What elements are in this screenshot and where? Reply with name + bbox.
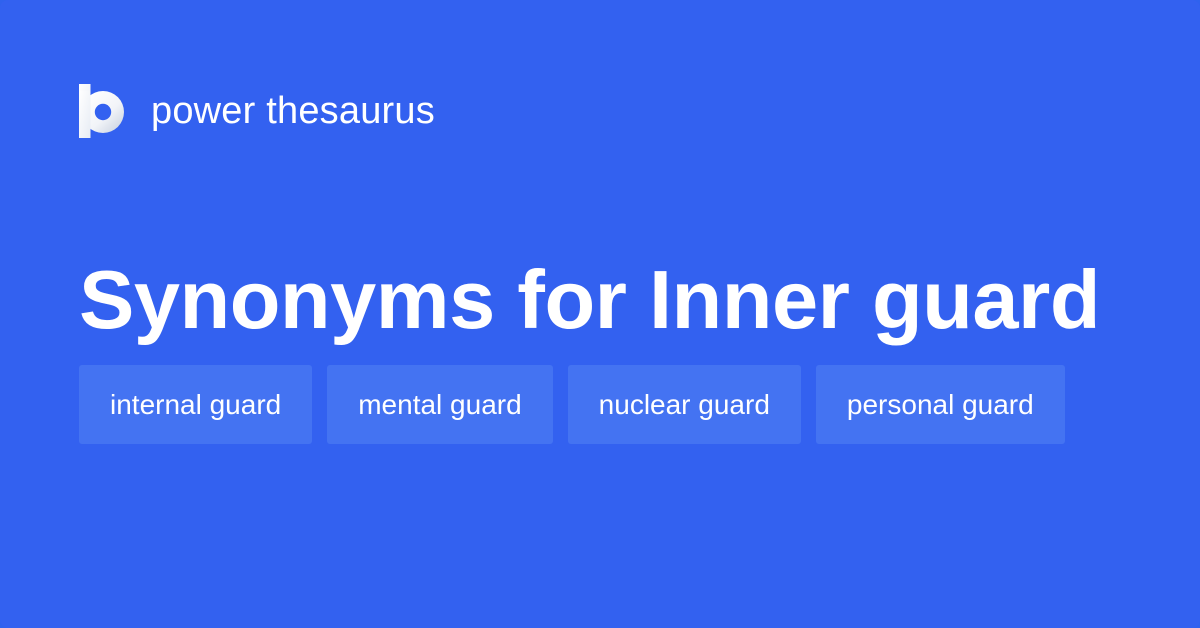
- synonym-chip[interactable]: nuclear guard: [568, 365, 801, 444]
- power-thesaurus-logo-icon: [79, 84, 129, 138]
- synonym-chip-label: nuclear guard: [599, 391, 770, 419]
- synonym-chip[interactable]: mental guard: [327, 365, 552, 444]
- synonym-chip-label: mental guard: [358, 391, 521, 419]
- brand-header[interactable]: power thesaurus: [79, 84, 435, 138]
- synonym-chip[interactable]: internal guard: [79, 365, 312, 444]
- brand-name: power thesaurus: [151, 92, 435, 130]
- synonym-chip-list: internal guard mental guard nuclear guar…: [79, 365, 1129, 444]
- synonym-chip[interactable]: personal guard: [816, 365, 1065, 444]
- synonym-chip-label: internal guard: [110, 391, 281, 419]
- synonym-chip-label: personal guard: [847, 391, 1034, 419]
- page-title: Synonyms for Inner guard: [79, 252, 1100, 348]
- synonyms-share-card: power thesaurus Synonyms for Inner guard…: [0, 0, 1200, 628]
